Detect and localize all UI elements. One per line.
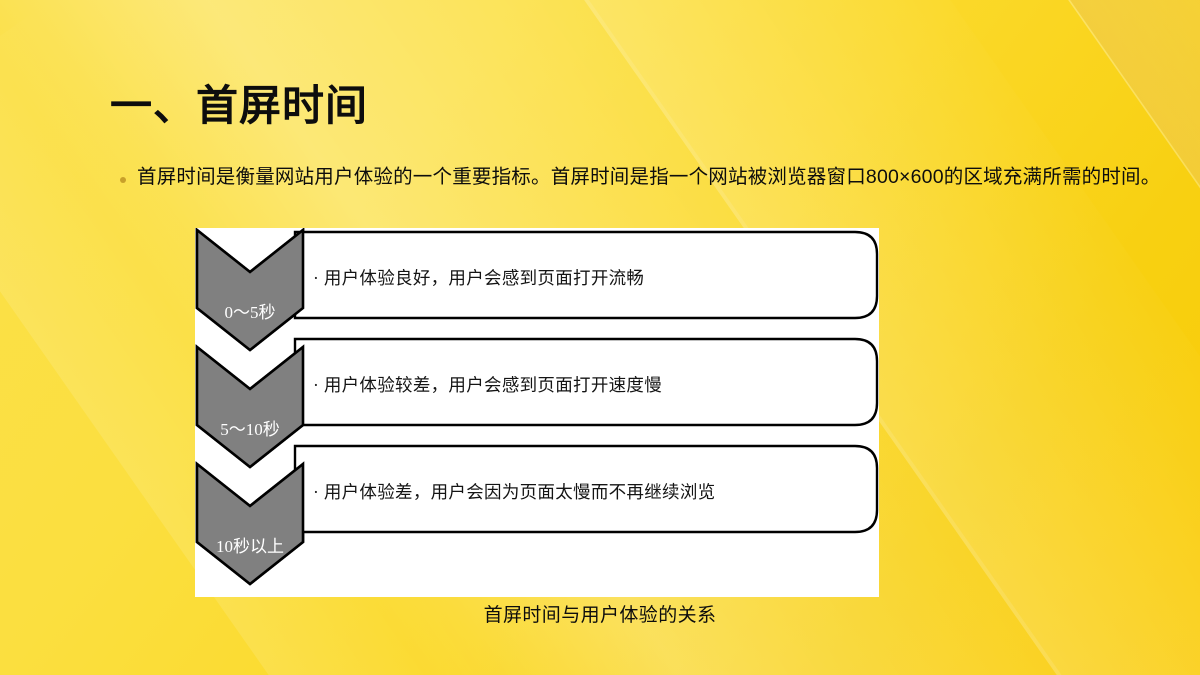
row-1-text: 用户体验良好，用户会感到页面打开流畅 [324,268,644,288]
chevron-2-label-overlay: 5～10秒 [220,420,280,439]
row-1-bullet: · [313,268,319,288]
slide-canvas: 一、首屏时间 首屏时间是衡量网站用户体验的一个重要指标。首屏时间是指一个网站被浏… [0,0,1200,675]
row-2-text-wrap: · 用户体验较差，用户会感到页面打开速度慢 [313,372,662,397]
row-3-text: 用户体验差，用户会因为页面太慢而不再继续浏览 [324,482,716,502]
slide-content: 一、首屏时间 首屏时间是衡量网站用户体验的一个重要指标。首屏时间是指一个网站被浏… [0,0,1200,675]
body-paragraph: 首屏时间是衡量网站用户体验的一个重要指标。首屏时间是指一个网站被浏览器窗口800… [137,164,1160,192]
chevron-3-overlay [197,464,303,584]
chevron-overlay: 0～5秒 5～10秒 10秒以上 [197,230,303,584]
diagram-caption: 首屏时间与用户体验的关系 [0,600,1200,627]
diagram-panel: 0～5秒 5～10秒 10秒以上 [195,228,879,597]
diagram-caption-text: 首屏时间与用户体验的关系 [484,600,717,627]
chevron-1-label-overlay: 0～5秒 [225,303,276,322]
chevron-3-label-overlay: 10秒以上 [216,537,284,556]
row-1-text-wrap: · 用户体验良好，用户会感到页面打开流畅 [313,265,644,290]
row-3-text-wrap: · 用户体验差，用户会因为页面太慢而不再继续浏览 [313,479,715,504]
page-title: 一、首屏时间 [110,82,368,130]
row-2-text: 用户体验较差，用户会感到页面打开速度慢 [324,375,662,395]
bullet-dot-icon [120,177,126,183]
chevron-2-overlay [197,347,303,467]
row-2-bullet: · [313,375,319,395]
body-bullet-item: 首屏时间是衡量网站用户体验的一个重要指标。首屏时间是指一个网站被浏览器窗口800… [120,164,1200,192]
row-3-bullet: · [313,482,319,502]
